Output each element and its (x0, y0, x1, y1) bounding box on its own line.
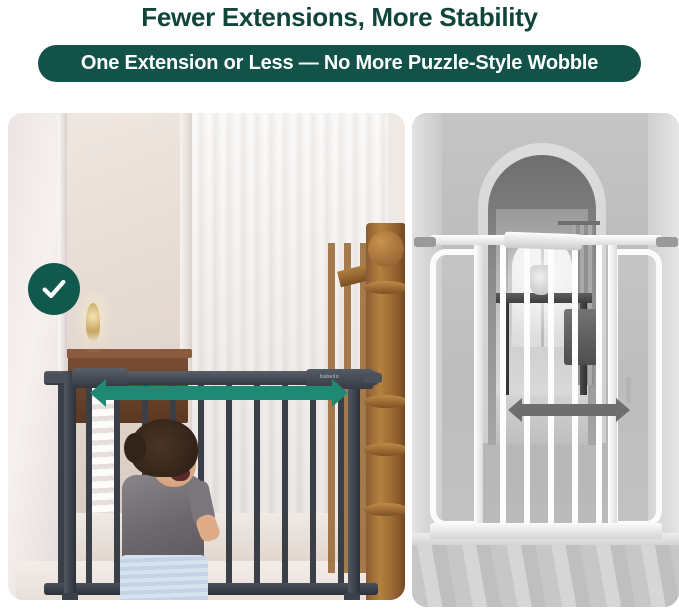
wall-sconce-icon (86, 303, 100, 341)
newel-finial (368, 231, 404, 267)
tile-floor (412, 545, 679, 607)
page-title: Fewer Extensions, More Stability (0, 2, 679, 33)
gate-post-left (64, 371, 76, 599)
scene-good: babelio (8, 113, 405, 600)
arrow-shaft (106, 386, 332, 400)
gate-extension-left (430, 249, 480, 527)
gate-latch-housing (504, 232, 583, 251)
arrow-head-left (90, 379, 106, 407)
gate-wall-mount-right (364, 373, 382, 383)
gate-post-right (348, 371, 360, 599)
subtitle-text: One Extension or Less — No More Puzzle-S… (81, 52, 598, 75)
gate-wall-mount-left (414, 237, 436, 247)
arrow-head-right (616, 398, 630, 422)
gate-bottom-rail (430, 523, 662, 539)
arrow-shaft (522, 404, 616, 416)
gate-extension-right (612, 249, 662, 527)
newel-ring (364, 281, 405, 294)
child-shorts (120, 555, 208, 600)
check-icon (40, 275, 68, 303)
gate-foot-right (344, 593, 360, 600)
gate-wall-mount-right (656, 237, 678, 247)
gate-bars (476, 243, 616, 527)
gate-foot-left (62, 593, 78, 600)
scene-bad (412, 113, 679, 607)
comparison-panel-good: babelio (8, 113, 405, 600)
gate-post-left (474, 237, 483, 537)
comparison-panel-bad (412, 113, 679, 607)
gate-wall-mount-left (44, 373, 68, 383)
safety-gate-white (430, 235, 662, 547)
arrow-head-right (332, 379, 348, 407)
arrow-head-left (508, 398, 522, 422)
subtitle-pill: One Extension or Less — No More Puzzle-S… (38, 45, 641, 82)
width-span-arrow-bad (508, 398, 630, 422)
gate-post-right (608, 237, 617, 537)
width-span-arrow-good (90, 379, 348, 407)
child-hair-curl (124, 433, 146, 463)
toddler-figure (108, 419, 228, 600)
checkmark-badge (28, 263, 80, 315)
